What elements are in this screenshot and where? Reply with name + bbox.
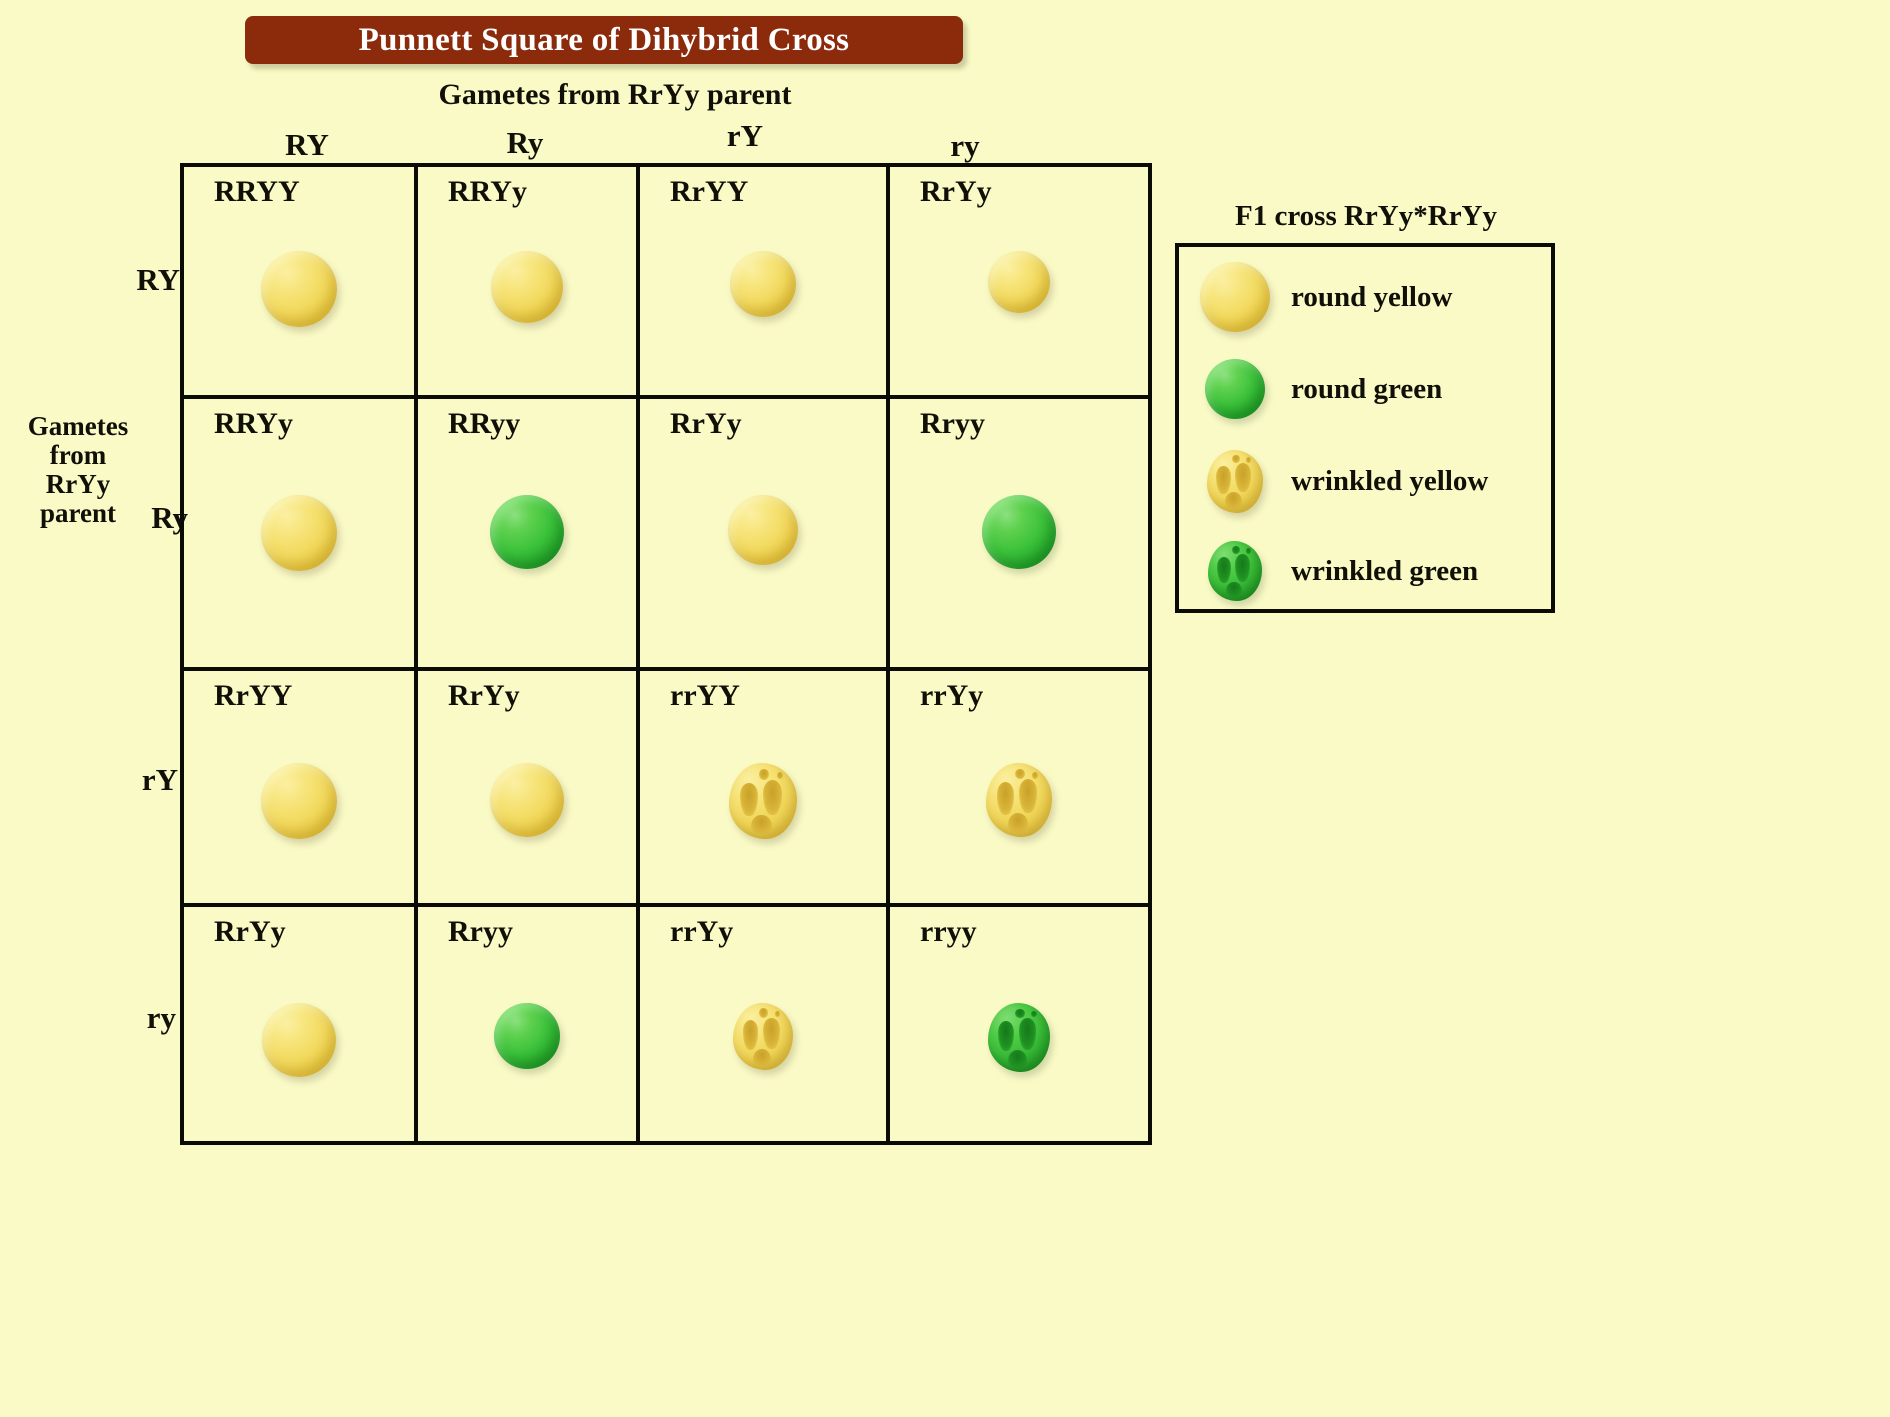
pea-dimple xyxy=(775,1011,780,1017)
pea-round-yellow-icon xyxy=(261,251,337,327)
pea-round-yellow-icon xyxy=(988,251,1050,313)
pea-dimple xyxy=(1226,582,1242,598)
punnett-cell-rryy-r1c3: RrYY xyxy=(640,167,890,399)
pea-slot xyxy=(418,251,636,323)
pea-slot xyxy=(640,763,886,839)
column-header-ry-dominant: RY xyxy=(247,127,367,163)
column-header-ry-4: ry xyxy=(905,128,1025,164)
pea-dimple xyxy=(751,815,771,835)
pea-dimple xyxy=(1015,1009,1024,1019)
pea-slot xyxy=(418,1003,636,1069)
pea-wrinkled-green-icon xyxy=(988,1003,1050,1072)
punnett-cell-rryy-r2c1: RRYy xyxy=(184,399,418,671)
row-header-ry-3: rY xyxy=(118,762,178,798)
punnett-cell-rryy-r2c2: RRyy xyxy=(418,399,640,671)
legend-item-label: round green xyxy=(1291,373,1442,406)
pea-slot xyxy=(890,1003,1148,1072)
genotype-label: RrYy xyxy=(214,915,286,949)
legend-item-round-yellow: round yellow xyxy=(1179,251,1551,343)
genotype-label: rrYY xyxy=(670,679,740,713)
pea-dimple xyxy=(1232,546,1240,554)
pea-dimple xyxy=(1225,492,1242,508)
pea-slot xyxy=(184,1003,414,1077)
pea-slot xyxy=(184,763,414,839)
punnett-cell-rryy-r1c2: RRYy xyxy=(418,167,640,399)
pea-round-yellow-icon xyxy=(1200,262,1270,332)
legend-swatch xyxy=(1179,541,1291,601)
pea-dimple xyxy=(753,1049,771,1066)
punnett-cell-rryy-r4c3: rrYy xyxy=(640,907,890,1145)
column-header-ry-3: rY xyxy=(685,118,805,154)
pea-dimple xyxy=(763,780,782,815)
punnett-cell-rryy-r4c2: Rryy xyxy=(418,907,640,1145)
legend-item-label: wrinkled green xyxy=(1291,555,1478,588)
legend-swatch xyxy=(1179,262,1291,332)
legend-swatch xyxy=(1179,450,1291,513)
pea-slot xyxy=(890,763,1148,837)
genotype-label: RrYY xyxy=(670,175,748,209)
pea-dimple xyxy=(1235,463,1251,492)
legend-swatch xyxy=(1179,359,1291,419)
pea-wrinkled-yellow-icon xyxy=(729,763,797,839)
pea-dimple xyxy=(777,772,783,779)
pea-dimple xyxy=(1008,1050,1027,1068)
pea-slot xyxy=(890,251,1148,313)
pea-wrinkled-green-icon xyxy=(1208,541,1262,601)
pea-slot xyxy=(640,1003,886,1070)
pea-round-yellow-icon xyxy=(261,495,337,571)
pea-wrinkled-yellow-icon xyxy=(733,1003,793,1070)
pea-slot xyxy=(640,495,886,565)
pea-dimple xyxy=(1246,548,1251,553)
page-title: Punnett Square of Dihybrid Cross xyxy=(359,22,850,59)
column-header-ry-2: Ry xyxy=(465,125,585,161)
pea-dimple xyxy=(997,782,1014,815)
legend-item-label: wrinkled yellow xyxy=(1291,465,1488,498)
genotype-label: RrYY xyxy=(214,679,292,713)
pea-dimple xyxy=(1019,779,1037,813)
punnett-cell-rryy-r4c4: rryy xyxy=(890,907,1152,1145)
pea-round-yellow-icon xyxy=(262,1003,336,1077)
genotype-label: rrYy xyxy=(920,679,983,713)
legend-item-round-green: round green xyxy=(1179,343,1551,435)
genotype-label: RrYy xyxy=(920,175,992,209)
legend-item-label: round yellow xyxy=(1291,281,1452,314)
pea-round-yellow-icon xyxy=(490,763,564,837)
pea-dimple xyxy=(1008,813,1028,832)
genotype-label: RRYy xyxy=(214,407,293,441)
pea-dimple xyxy=(1019,1018,1036,1050)
pea-dimple xyxy=(1232,455,1240,464)
genotype-label: rryy xyxy=(920,915,977,949)
pea-round-yellow-icon xyxy=(728,495,798,565)
genotype-label: RrYy xyxy=(448,679,520,713)
legend-title: F1 cross RrYy*RrYy xyxy=(1175,200,1557,233)
top-axis-caption: Gametes from RrYy parent xyxy=(400,78,830,112)
pea-wrinkled-yellow-icon xyxy=(986,763,1052,837)
genotype-label: Rryy xyxy=(920,407,985,441)
pea-slot xyxy=(890,495,1148,569)
pea-round-green-icon xyxy=(490,495,564,569)
pea-round-green-icon xyxy=(1205,359,1265,419)
pea-slot xyxy=(640,251,886,317)
genotype-label: RRYy xyxy=(448,175,527,209)
pea-round-yellow-icon xyxy=(261,763,337,839)
pea-dimple xyxy=(740,783,758,816)
pea-dimple xyxy=(1031,1011,1037,1017)
punnett-cell-rryy-r3c2: RrYy xyxy=(418,671,640,907)
punnett-cell-rryy-r1c4: RrYy xyxy=(890,167,1152,399)
pea-round-green-icon xyxy=(494,1003,560,1069)
left-axis-caption: GametesfromRrYyparent xyxy=(8,412,148,529)
pea-dimple xyxy=(759,1008,768,1017)
title-banner: Punnett Square of Dihybrid Cross xyxy=(245,16,963,64)
pea-dimple xyxy=(998,1021,1014,1051)
pea-dimple xyxy=(1015,769,1025,779)
punnett-cell-rryy-r3c4: rrYy xyxy=(890,671,1152,907)
pea-dimple xyxy=(1246,457,1251,463)
pea-round-green-icon xyxy=(982,495,1056,569)
pea-dimple xyxy=(1032,772,1038,779)
punnett-cell-rryy-r1c1: RRYY xyxy=(184,167,418,399)
row-header-ry-2: Ry xyxy=(128,500,188,536)
pea-slot xyxy=(418,763,636,837)
genotype-label: rrYy xyxy=(670,915,733,949)
row-header-ry-dominant: RY xyxy=(120,262,180,298)
pea-slot xyxy=(184,495,414,571)
pea-dimple xyxy=(1216,466,1231,494)
genotype-label: RRyy xyxy=(448,407,520,441)
punnett-cell-rryy-r2c4: Rryy xyxy=(890,399,1152,671)
pea-wrinkled-yellow-icon xyxy=(1207,450,1263,513)
legend-box: round yellowround greenwrinkled yellowwr… xyxy=(1175,243,1555,613)
legend-item-wrinkled-green: wrinkled green xyxy=(1179,525,1551,617)
genotype-label: Rryy xyxy=(448,915,513,949)
row-header-ry-4: ry xyxy=(116,1000,176,1036)
genotype-label: RrYy xyxy=(670,407,742,441)
punnett-cell-rryy-r3c3: rrYY xyxy=(640,671,890,907)
punnett-cell-rryy-r3c1: RrYY xyxy=(184,671,418,907)
pea-round-yellow-icon xyxy=(730,251,796,317)
pea-dimple xyxy=(743,1020,759,1049)
pea-slot xyxy=(418,495,636,569)
legend-item-wrinkled-yellow: wrinkled yellow xyxy=(1179,435,1551,527)
genotype-label: RRYY xyxy=(214,175,300,209)
punnett-cell-rryy-r4c1: RrYy xyxy=(184,907,418,1145)
pea-dimple xyxy=(763,1018,780,1049)
pea-slot xyxy=(184,251,414,327)
pea-dimple xyxy=(1235,554,1250,582)
pea-dimple xyxy=(1217,557,1231,583)
punnett-square-grid: RRYYRRYyRrYYRrYyRRYyRRyyRrYyRryyRrYYRrYy… xyxy=(180,163,1152,1145)
pea-dimple xyxy=(759,769,769,780)
pea-round-yellow-icon xyxy=(491,251,563,323)
punnett-cell-rryy-r2c3: RrYy xyxy=(640,399,890,671)
